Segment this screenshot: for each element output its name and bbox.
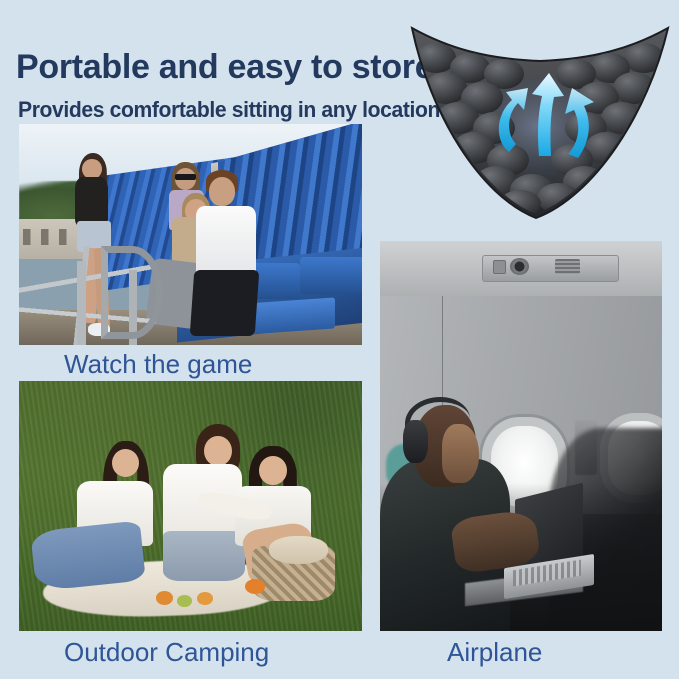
product-cushion-illustration: [408, 18, 674, 223]
caption-airplane: Airplane: [447, 637, 542, 667]
photo-watch-the-game: [19, 124, 362, 345]
caption-outdoor-camping: Outdoor Camping: [64, 637, 269, 667]
page-title: Portable and easy to store: [16, 47, 433, 87]
page-subtitle: Provides comfortable sitting in any loca…: [18, 96, 440, 124]
photo-airplane: [380, 241, 662, 631]
caption-watch-the-game: Watch the game: [64, 349, 252, 379]
product-feature-image: Portable and easy to store Provides comf…: [0, 0, 679, 679]
photo-outdoor-camping: [19, 381, 362, 631]
